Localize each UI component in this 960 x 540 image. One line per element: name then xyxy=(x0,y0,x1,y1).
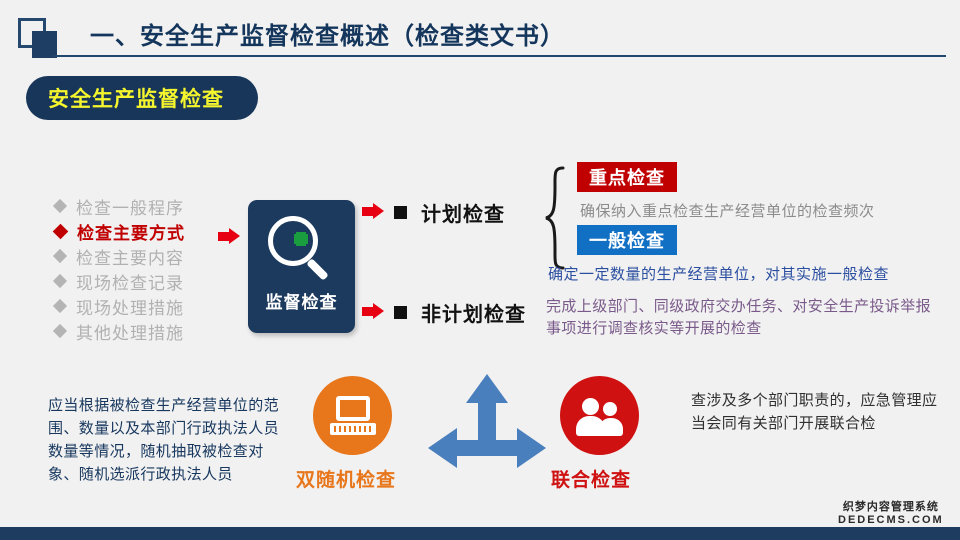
laptop-screen xyxy=(336,396,370,421)
sidebar-item-label: 现场检查记录 xyxy=(76,269,184,294)
section-pill: 安全生产监督检查 xyxy=(26,76,258,120)
diamond-icon xyxy=(53,199,67,213)
square-bullet-icon xyxy=(394,206,407,219)
random-check-label: 双随机检查 xyxy=(296,465,396,492)
laptop-icon xyxy=(330,396,376,436)
sidebar-item-other-measures[interactable]: 其他处理措施 xyxy=(55,319,255,343)
key-check-badge-label: 重点检查 xyxy=(589,164,665,190)
random-check-paragraph: 应当根据被检查生产经营单位的范围、数量以及本部门行政执法人员数量等情况，随机抽取… xyxy=(48,394,288,486)
watermark-en: DEDECMS.COM xyxy=(838,514,944,526)
magnifier-handle xyxy=(306,258,329,281)
sidebar-item-label: 检查一般程序 xyxy=(76,194,184,219)
general-check-badge: 一般检查 xyxy=(577,225,677,255)
supervision-card: 监督检查 xyxy=(248,200,355,333)
watermark-cn: 织梦内容管理系统 xyxy=(838,498,944,514)
people-icon xyxy=(576,396,624,436)
sidebar-item-general-procedure[interactable]: 检查一般程序 xyxy=(55,194,255,218)
section-pill-label: 安全生产监督检查 xyxy=(48,83,224,113)
watermark: 织梦内容管理系统 DEDECMS.COM xyxy=(838,498,944,526)
sidebar-item-onsite-record[interactable]: 现场检查记录 xyxy=(55,269,255,293)
general-check-badge-label: 一般检查 xyxy=(589,227,665,253)
person-head-front xyxy=(582,398,599,415)
diamond-icon xyxy=(53,299,67,313)
plus-vertical xyxy=(296,232,306,246)
joint-check-icon-circle xyxy=(560,376,639,455)
sidebar-item-label: 其他处理措施 xyxy=(76,319,184,344)
unplanned-check-note: 完成上级部门、同级政府交办任务、对安全生产投诉举报事项进行调查核实等开展的检查 xyxy=(546,296,946,340)
header-divider xyxy=(53,55,946,57)
tri-arrow-icon xyxy=(424,370,550,470)
double-square-icon xyxy=(18,18,64,60)
magnifier-plus-icon xyxy=(268,216,338,282)
general-check-note: 确定一定数量的生产经营单位，对其实施一般检查 xyxy=(548,263,889,284)
footer-bar xyxy=(0,527,960,540)
random-check-icon-circle xyxy=(313,376,392,455)
sidebar-item-onsite-measures[interactable]: 现场处理措施 xyxy=(55,294,255,318)
joint-check-label: 联合检查 xyxy=(551,465,631,492)
laptop-keyboard xyxy=(330,423,376,435)
unplanned-check-label: 非计划检查 xyxy=(421,298,526,327)
sidebar-item-main-content[interactable]: 检查主要内容 xyxy=(55,244,255,268)
square-filled xyxy=(32,31,57,58)
supervision-card-label: 监督检查 xyxy=(248,288,355,313)
sidebar-item-label: 检查主要内容 xyxy=(76,244,184,269)
diamond-icon xyxy=(53,223,69,239)
sidebar-item-label: 检查主要方式 xyxy=(77,219,185,244)
page-title: 一、安全生产监督检查概述（检查类文书） xyxy=(90,16,565,51)
diamond-icon xyxy=(53,274,67,288)
diamond-icon xyxy=(53,324,67,338)
person-head-back xyxy=(603,402,617,416)
sidebar-item-label: 现场处理措施 xyxy=(76,294,184,319)
key-check-badge: 重点检查 xyxy=(577,162,677,192)
nav-list: 检查一般程序 检查主要方式 检查主要内容 现场检查记录 现场处理措施 其他处理措… xyxy=(55,194,255,344)
diamond-icon xyxy=(53,249,67,263)
square-bullet-icon xyxy=(394,306,407,319)
person-body-front xyxy=(576,416,605,436)
key-check-note: 确保纳入重点检查生产经营单位的检查频次 xyxy=(580,200,875,221)
planned-check-label: 计划检查 xyxy=(421,198,505,227)
joint-check-paragraph: 查涉及多个部门职责的，应急管理应当会同有关部门开展联合检 xyxy=(691,389,946,435)
slide-canvas: 一、安全生产监督检查概述（检查类文书） 安全生产监督检查 检查一般程序 检查主要… xyxy=(0,0,960,540)
planned-check-item: 计划检查 xyxy=(394,198,505,227)
unplanned-check-item: 非计划检查 xyxy=(394,298,526,327)
curly-brace-icon xyxy=(544,166,566,270)
